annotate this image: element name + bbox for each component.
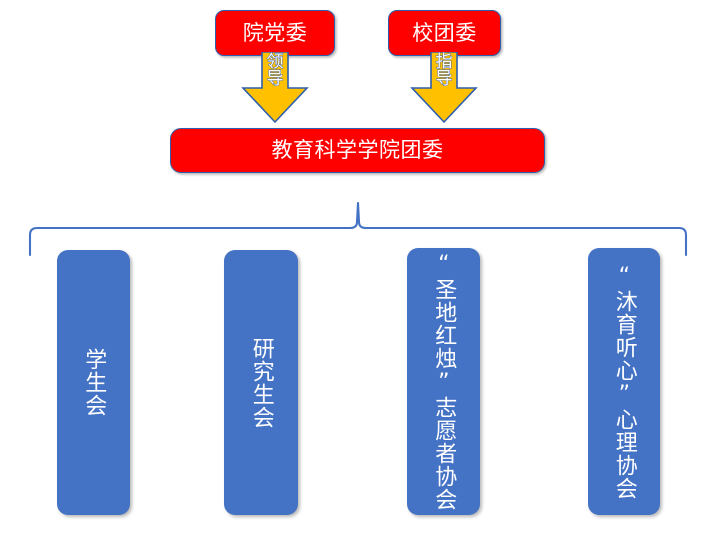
node-muyu-tingxin[interactable]: “沐育听心”心理协会 <box>588 248 660 515</box>
node-muyu-tingxin-label: “沐育听心”心理协会 <box>612 264 636 500</box>
node-yanjiushenghui[interactable]: 研究生会 <box>224 250 298 515</box>
node-shengdi-hongzhu-label: “圣地红烛”志愿者协会 <box>432 252 456 511</box>
node-xiaotuanwei[interactable]: 校团委 <box>388 10 501 56</box>
node-main-tuanwei-label: 教育科学学院团委 <box>272 140 444 161</box>
node-yuandangwei[interactable]: 院党委 <box>215 10 335 56</box>
down-arrow-icon <box>408 52 480 124</box>
node-yanjiushenghui-label: 研究生会 <box>249 337 273 429</box>
node-shengdi-hongzhu[interactable]: “圣地红烛”志愿者协会 <box>407 248 480 515</box>
node-yuandangwei-label: 院党委 <box>243 23 308 44</box>
arrow-lingdao[interactable]: 领 导 <box>239 52 311 124</box>
node-main-tuanwei[interactable]: 教育科学学院团委 <box>170 128 545 173</box>
node-xiaotuanwei-label: 校团委 <box>412 23 477 44</box>
arrow-zhidao[interactable]: 指 导 <box>408 52 480 124</box>
down-arrow-icon <box>239 52 311 124</box>
node-xueshenghui[interactable]: 学生会 <box>57 250 130 515</box>
node-xueshenghui-label: 学生会 <box>82 348 106 417</box>
diagram-canvas: 院党委 校团委 领 导 指 导 教育科学学院团委 学生会 研究 <box>0 0 707 534</box>
